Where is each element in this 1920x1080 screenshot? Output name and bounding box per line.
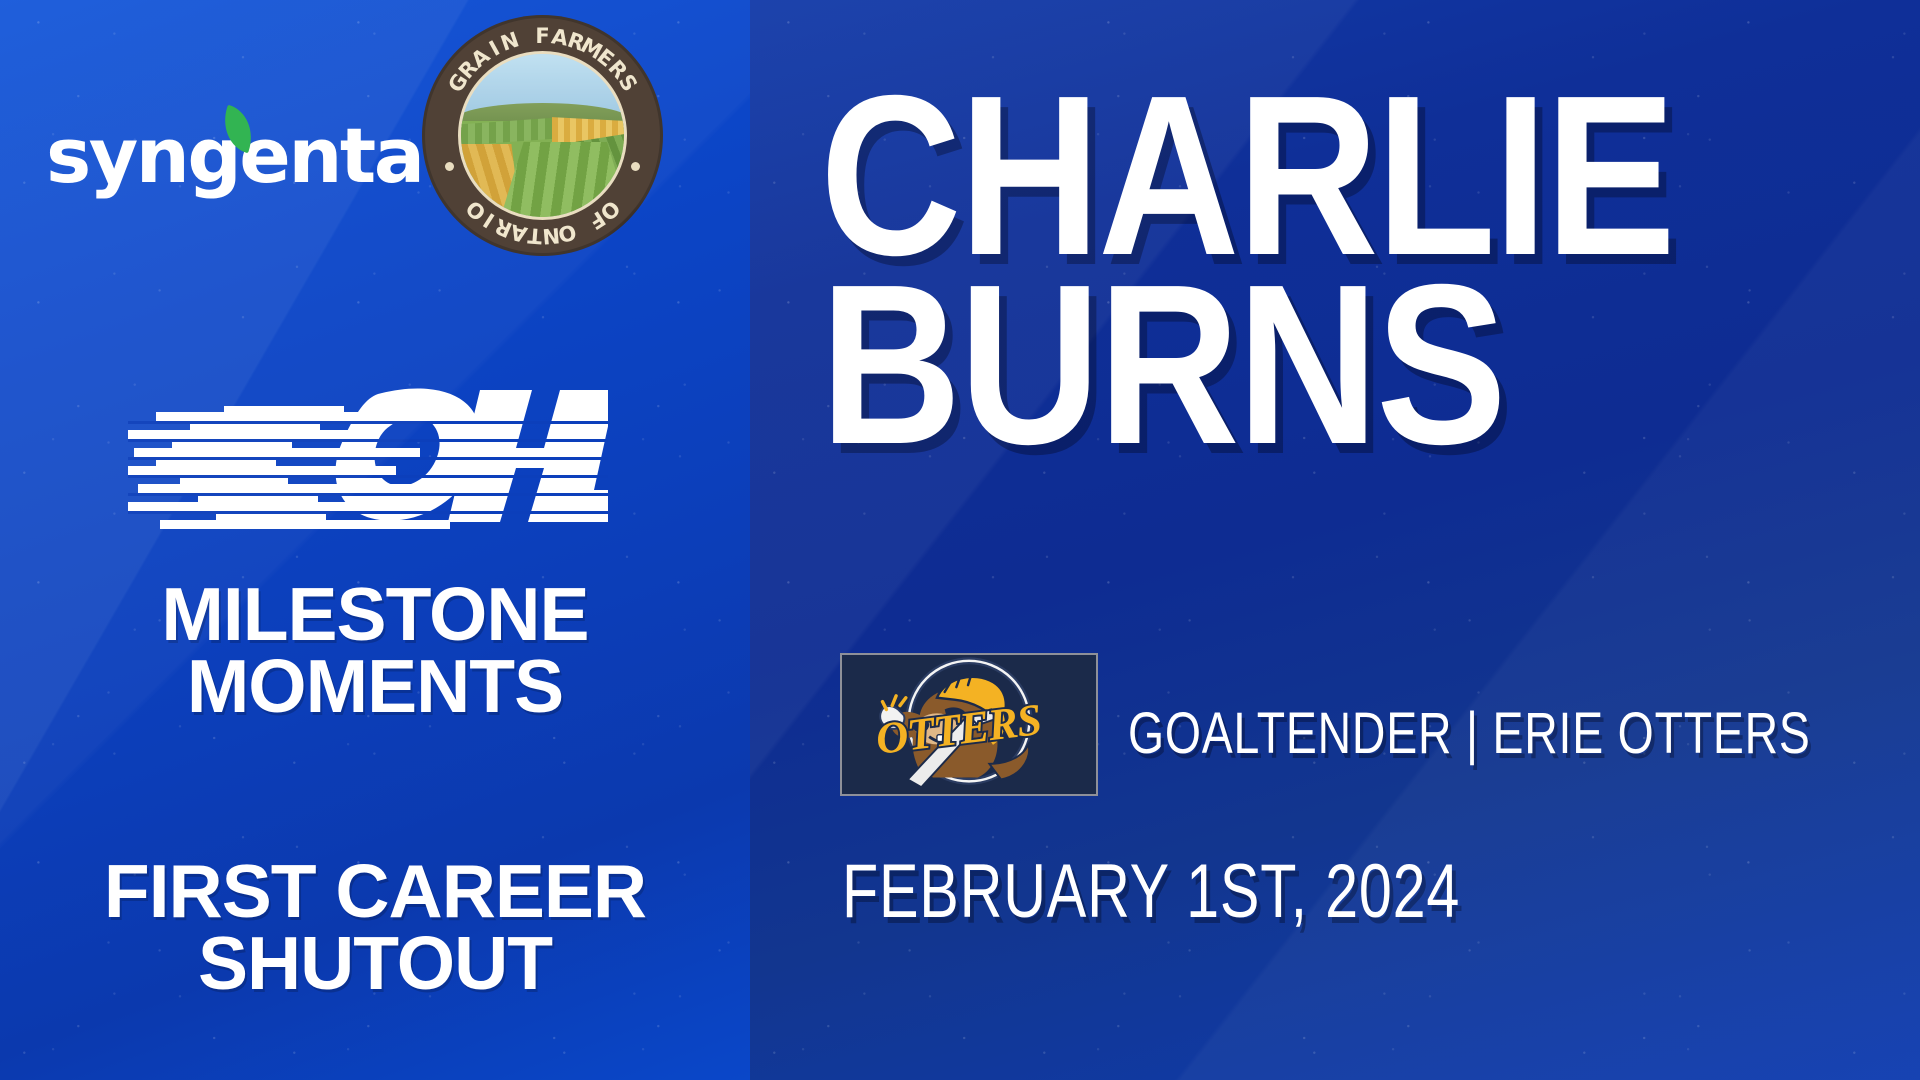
gfo-separator-dot-left xyxy=(445,162,454,171)
gfo-arc-char: M xyxy=(576,32,606,63)
gfo-arc-char: O xyxy=(595,195,624,225)
milestone-description: FIRST CAREER SHUTOUT xyxy=(0,855,750,999)
milestone-date: FEBRUARY 1ST, 2024 xyxy=(842,848,1460,935)
player-position-team: GOALTENDER | ERIE OTTERS xyxy=(1128,700,1811,767)
gfo-arc-char: N xyxy=(541,222,560,247)
player-last-name: BURNS xyxy=(820,271,1757,460)
gfo-arc-char: I xyxy=(485,36,503,61)
series-title: MILESTONE MOMENTS xyxy=(0,578,750,722)
gfo-arc-char: O xyxy=(461,195,490,225)
series-title-line1: MILESTONE xyxy=(0,578,750,650)
gfo-field-strip-5 xyxy=(575,134,624,180)
gfo-field-strip-1 xyxy=(461,118,556,146)
milestone-graphic: syngenta ® GRAINFARMERS OFONTARIO xyxy=(0,0,1920,1080)
gfo-arc-char: G xyxy=(443,69,472,96)
gfo-arc-char: A xyxy=(466,43,494,72)
gfo-arc-char: O xyxy=(555,219,578,247)
gfo-sky xyxy=(461,54,624,116)
gfo-separator-dot-right xyxy=(631,162,640,171)
gfo-arc-char: A xyxy=(549,24,569,50)
gfo-arc-char: E xyxy=(592,44,618,72)
registered-trademark-icon: ® xyxy=(428,162,449,186)
gfo-field-strip-2 xyxy=(552,117,624,146)
grain-farmers-of-ontario-logo: GRAINFARMERS OFONTARIO xyxy=(425,18,660,253)
gfo-arc-char: R xyxy=(453,55,482,83)
gfo-field-strip-4 xyxy=(500,142,627,219)
gfo-field-strip-3 xyxy=(458,144,521,219)
milestone-line1: FIRST CAREER xyxy=(0,855,750,927)
gfo-arc-char: T xyxy=(526,223,542,248)
gfo-field-emblem xyxy=(458,51,627,220)
gfo-top-arc-text: GRAINFARMERS xyxy=(425,18,660,253)
gfo-arc-char: R xyxy=(603,55,632,83)
gfo-arc-char: F xyxy=(584,206,609,234)
gfo-arc-char: R xyxy=(564,27,587,55)
gfo-arc-char: I xyxy=(479,207,499,231)
gfo-arc-char: R xyxy=(491,213,515,241)
player-name: CHARLIE BURNS xyxy=(820,82,1910,460)
gfo-bottom-arc-text: OFONTARIO xyxy=(425,18,660,253)
erie-otters-logo: OTTERS xyxy=(840,653,1098,796)
gfo-arc-char: A xyxy=(508,219,530,246)
gfo-hills xyxy=(458,103,627,129)
series-title-line2: MOMENTS xyxy=(0,650,750,722)
syngenta-logo: syngenta ® xyxy=(46,118,449,194)
milestone-line2: SHUTOUT xyxy=(0,927,750,999)
leaf-icon xyxy=(216,105,261,154)
gfo-arc-char: F xyxy=(535,24,549,48)
left-panel: syngenta ® GRAINFARMERS OFONTARIO xyxy=(0,0,750,1080)
gfo-arc-char: N xyxy=(497,27,522,55)
left-panel-texture xyxy=(0,0,750,1080)
gfo-fields xyxy=(461,121,624,217)
ohl-logo xyxy=(128,370,608,545)
syngenta-wordmark: syngenta xyxy=(46,118,423,194)
gfo-arc-char: S xyxy=(613,70,641,96)
